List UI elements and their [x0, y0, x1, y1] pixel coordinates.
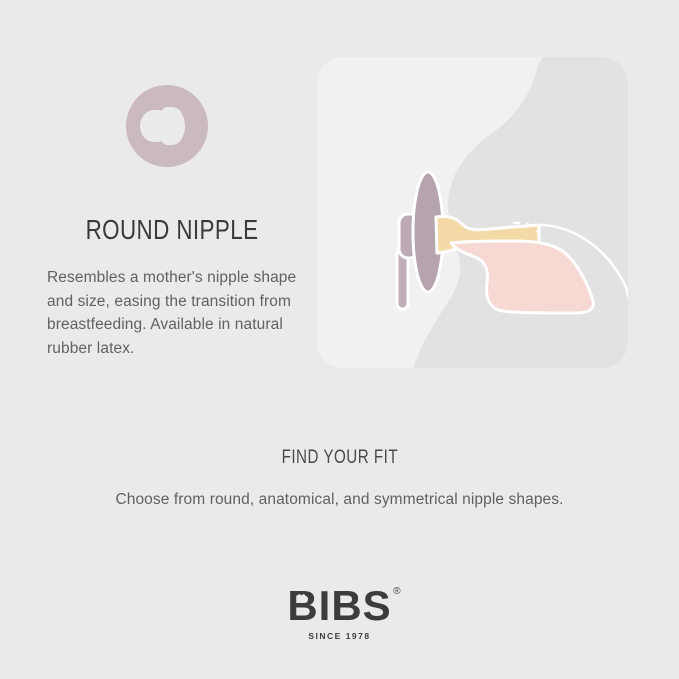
- round-nipple-shape-icon: [126, 85, 208, 167]
- brand-tagline: SINCE 1978: [287, 631, 391, 641]
- find-your-fit-title-text: FIND YOUR FIT: [281, 447, 398, 469]
- brand-wordmark: BIBS ®: [287, 585, 391, 627]
- registered-trademark-symbol: ®: [393, 587, 401, 597]
- find-your-fit-subtitle: Choose from round, anatomical, and symme…: [0, 491, 679, 509]
- heart-icon: [297, 594, 306, 602]
- page-title: ROUND NIPPLE: [72, 216, 272, 244]
- brand-logo: BIBS ® SINCE 1978: [0, 585, 679, 644]
- baby-head-pacifier-illustration: [317, 57, 628, 368]
- baby-head-silhouette: [413, 57, 628, 368]
- brand-wordmark-text: BIBS: [287, 582, 391, 629]
- find-your-fit-title: FIND YOUR FIT: [0, 447, 679, 469]
- product-feature-page: ROUND NIPPLE Resembles a mother's nipple…: [0, 0, 679, 679]
- logo-mark: BIBS ® SINCE 1978: [287, 585, 391, 641]
- illustration-panel: [317, 57, 628, 368]
- shape-icon-cutout-body: [159, 107, 185, 145]
- feature-text-column: ROUND NIPPLE Resembles a mother's nipple…: [47, 85, 297, 360]
- feature-description: Resembles a mother's nipple shape and si…: [47, 266, 297, 360]
